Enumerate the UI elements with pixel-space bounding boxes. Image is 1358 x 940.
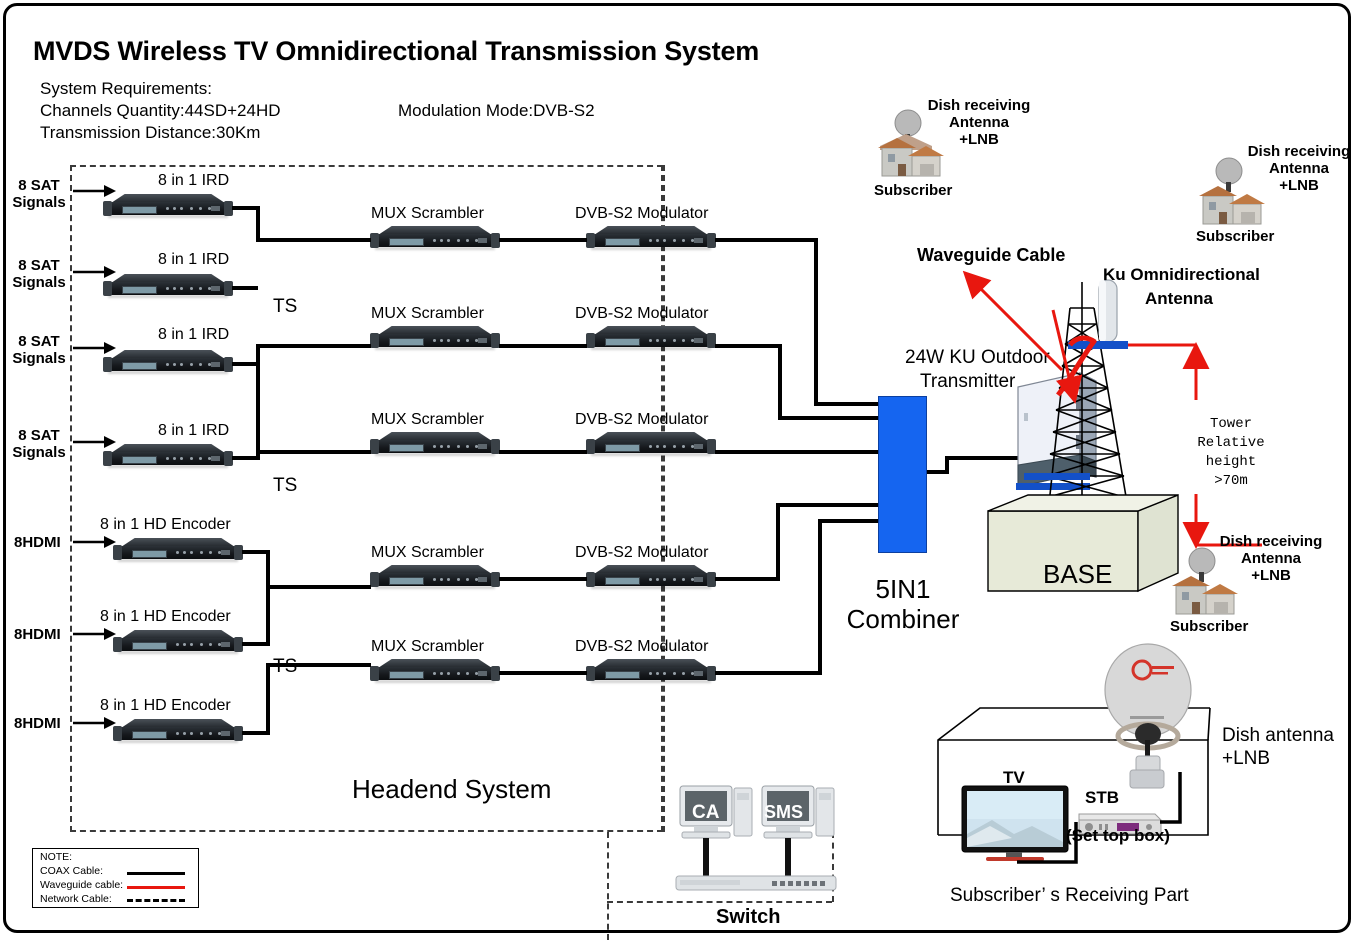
note-title: NOTE: (40, 852, 72, 864)
note-row-coax-label: COAX Cable: (40, 866, 103, 878)
switch-label: Switch (716, 906, 780, 928)
ca-sms-switch (676, 780, 836, 905)
note-row-waveguide-label: Waveguide cable: (40, 880, 123, 892)
sms-label: SMS (764, 802, 803, 822)
ca-label: CA (692, 802, 719, 823)
note-sample-waveguide (127, 886, 185, 889)
note-row-network-label: Network Cable: (40, 894, 112, 906)
receiving-part-title: Subscriber’ s Receiving Part (950, 885, 1189, 906)
note-sample-network (127, 899, 185, 902)
note-sample-coax (127, 872, 185, 875)
